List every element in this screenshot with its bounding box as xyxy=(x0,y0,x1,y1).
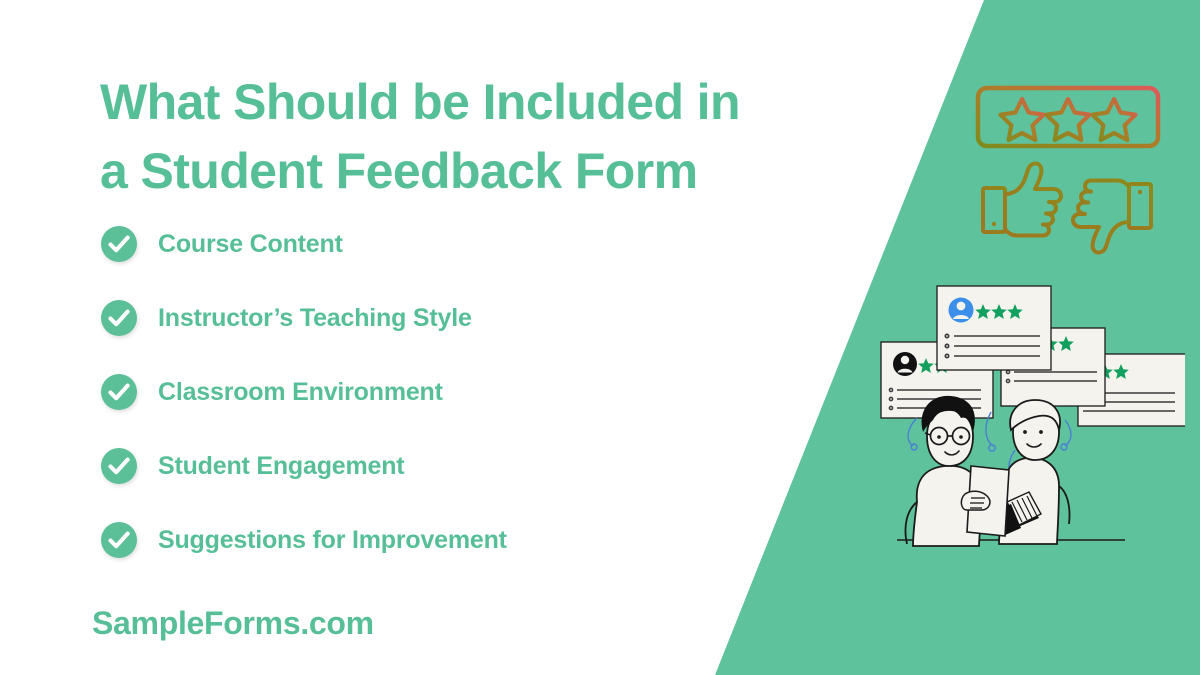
check-circle-icon xyxy=(100,521,138,559)
checklist: Course Content Instructor’s Teaching Sty… xyxy=(100,222,720,592)
check-circle-icon xyxy=(100,225,138,263)
three-star-rating-icon xyxy=(975,85,1161,149)
list-item: Classroom Environment xyxy=(100,370,720,414)
list-item-label: Classroom Environment xyxy=(158,378,443,407)
site-brand: SampleForms.com xyxy=(92,605,374,642)
list-item-label: Suggestions for Improvement xyxy=(158,526,507,555)
reviews-and-students-illustration xyxy=(875,280,1185,580)
illustration-area xyxy=(855,0,1200,675)
avatar-black xyxy=(893,352,917,376)
page-title-line-2: a Student Feedback Form xyxy=(100,137,830,206)
page-title-line-1: What Should be Included in xyxy=(100,68,830,137)
list-item: Course Content xyxy=(100,222,720,266)
list-item: Instructor’s Teaching Style xyxy=(100,296,720,340)
avatar-blue xyxy=(949,298,974,323)
thumbs-rating-group xyxy=(977,158,1159,256)
check-circle-icon xyxy=(100,447,138,485)
list-item: Suggestions for Improvement xyxy=(100,518,720,562)
review-card-top-center xyxy=(937,286,1051,370)
list-item-label: Student Engagement xyxy=(158,452,404,481)
list-item: Student Engagement xyxy=(100,444,720,488)
thumbs-up-icon xyxy=(983,163,1061,235)
page-title: What Should be Included in a Student Fee… xyxy=(100,68,830,206)
list-item-label: Course Content xyxy=(158,230,343,259)
thumbs-down-icon xyxy=(1073,181,1151,253)
poster-canvas: What Should be Included in a Student Fee… xyxy=(0,0,1200,675)
left-content-column: What Should be Included in a Student Fee… xyxy=(0,0,700,675)
check-circle-icon xyxy=(100,373,138,411)
list-item-label: Instructor’s Teaching Style xyxy=(158,304,472,333)
check-circle-icon xyxy=(100,299,138,337)
